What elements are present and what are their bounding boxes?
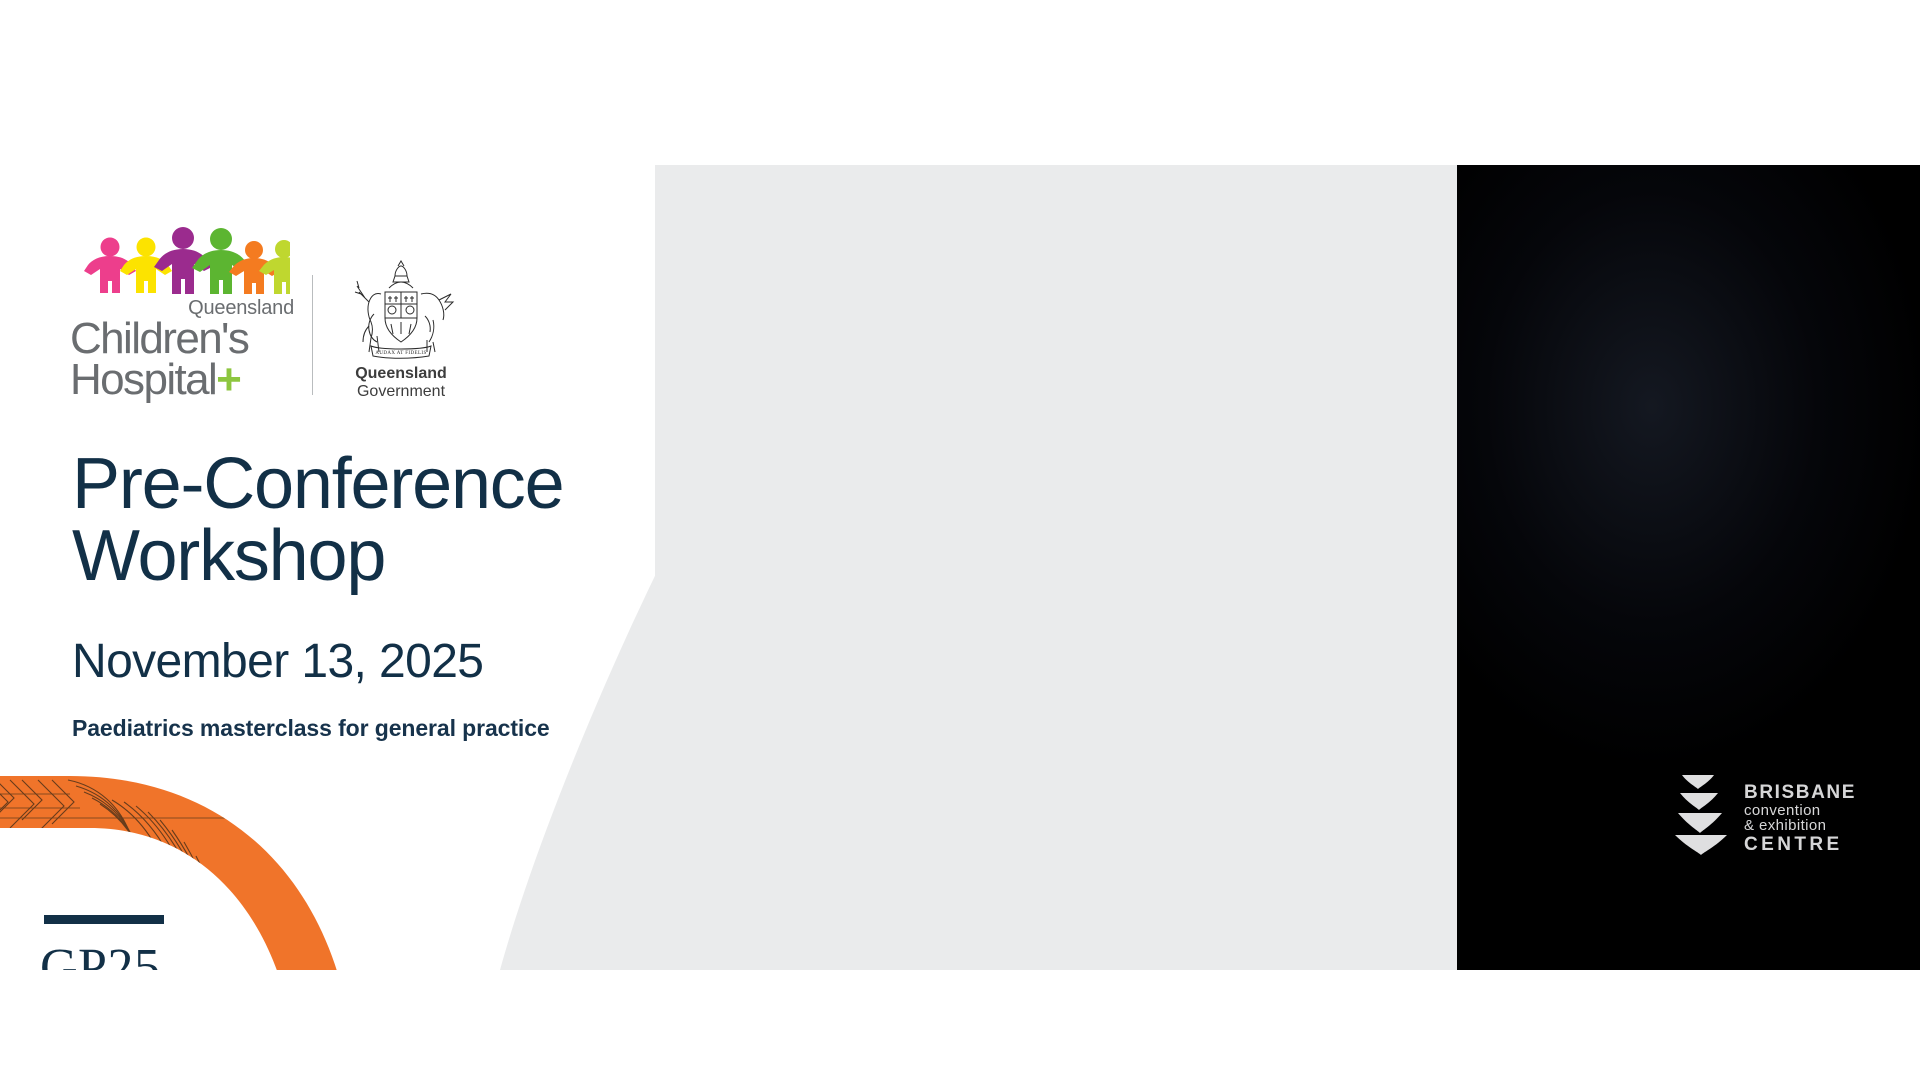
qgov-line-queensland: Queensland — [341, 366, 461, 383]
queensland-childrens-hospital-logo: Queensland Children's Hospital+ — [70, 222, 302, 401]
photo-backdrop — [655, 165, 1310, 970]
bcec-line-centre: CENTRE — [1744, 835, 1856, 854]
logo-lockup: Queensland Children's Hospital+ — [70, 222, 461, 401]
bcec-wordmark: BRISBANE convention & exhibition CENTRE — [1744, 783, 1856, 854]
qch-line-hospital: Hospital+ — [70, 359, 302, 400]
bcec-line-brisbane: BRISBANE — [1744, 783, 1856, 802]
slide-headline: Pre-Conference Workshop — [72, 448, 563, 592]
headline-line-2: Workshop — [72, 520, 563, 592]
paper-doll-figures-icon — [84, 222, 302, 294]
bcec-venue-logo: BRISBANE convention & exhibition CENTRE — [1672, 773, 1856, 865]
gp25-navy-rule — [44, 915, 164, 924]
bcec-chevrons-svg — [1672, 773, 1734, 865]
qgov-line-government: Government — [341, 383, 461, 401]
bcec-line-convention: convention — [1744, 803, 1856, 818]
queensland-government-logo: AUDAX AT FIDELIS Queensland Government — [341, 258, 461, 400]
qch-line-childrens: Children's — [70, 318, 302, 359]
slide-subtitle: Paediatrics masterclass for general prac… — [72, 715, 550, 742]
coat-of-arms-icon: AUDAX AT FIDELIS — [341, 258, 461, 362]
speaker-video-tile[interactable]: BRISBANE convention & exhibition CENTRE — [1457, 165, 1920, 970]
doll-chain-svg — [84, 222, 290, 294]
coat-of-arms-svg: AUDAX AT FIDELIS — [341, 258, 461, 362]
qch-hospital-text: Hospital — [70, 355, 216, 404]
presentation-slide: Queensland Children's Hospital+ — [0, 0, 1920, 1080]
qch-wordmark: Queensland Children's Hospital+ — [70, 298, 302, 401]
green-plus-icon: + — [216, 355, 240, 404]
coat-of-arms-motto: AUDAX AT FIDELIS — [375, 351, 426, 356]
bcec-chevron-marks-icon — [1672, 773, 1734, 865]
bottom-white-band — [0, 970, 1920, 1080]
child-doctor-photo — [655, 165, 1310, 970]
slide-date: November 13, 2025 — [72, 634, 483, 689]
bcec-line-exhibition: & exhibition — [1744, 818, 1856, 833]
headline-line-1: Pre-Conference — [72, 448, 563, 520]
logo-divider — [312, 275, 313, 395]
screen: Queensland Children's Hospital+ — [0, 0, 1920, 1080]
